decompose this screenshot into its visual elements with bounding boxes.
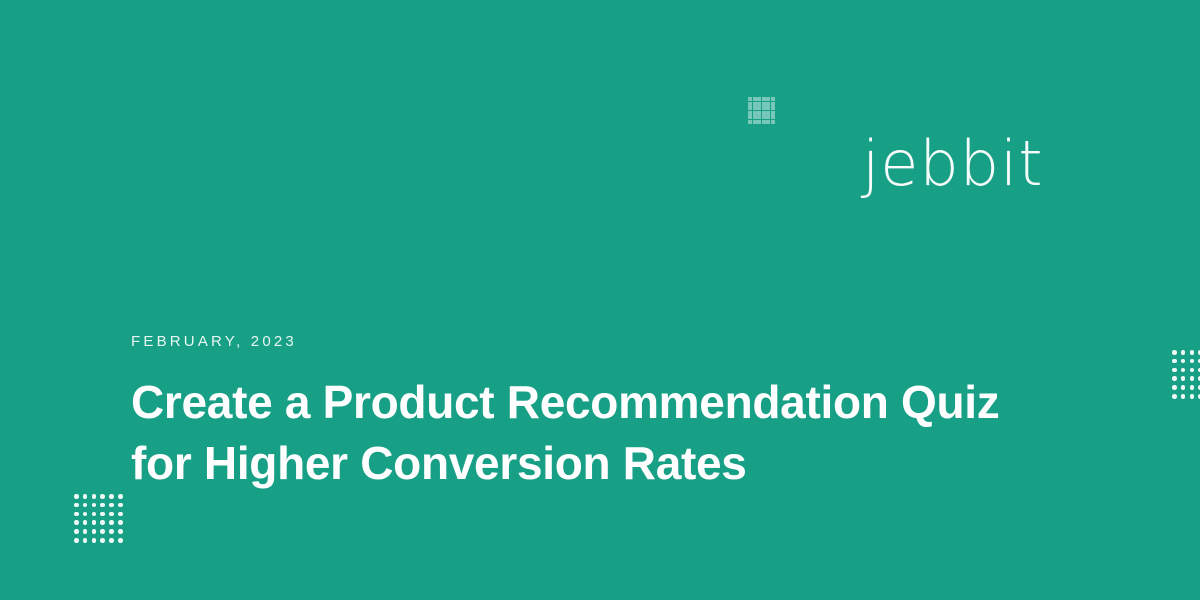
dot (118, 494, 123, 499)
dot (118, 520, 123, 525)
dot (771, 120, 775, 124)
dot (762, 120, 766, 124)
dot (83, 503, 88, 508)
dot (74, 529, 79, 534)
dot (762, 115, 766, 119)
dot (1190, 385, 1195, 390)
page-title: Create a Product Recommendation Quiz for… (131, 372, 1011, 493)
dot (762, 102, 766, 106)
dot (118, 512, 123, 517)
dot (757, 111, 761, 115)
dot (757, 102, 761, 106)
dot (766, 106, 770, 110)
dot (83, 538, 88, 543)
dot (92, 494, 97, 499)
dot (1190, 394, 1195, 399)
dot (74, 503, 79, 508)
dot (74, 494, 79, 499)
dot (1172, 359, 1177, 364)
page-title-line-2: for Higher Conversion Rates (131, 433, 1011, 494)
dot (753, 97, 757, 101)
dot (757, 97, 761, 101)
dot (1190, 350, 1195, 355)
dot (92, 512, 97, 517)
dot (753, 106, 757, 110)
publish-date: FEBRUARY, 2023 (131, 333, 1011, 351)
page-title-line-1: Create a Product Recommendation Quiz (131, 372, 1011, 433)
dot (766, 115, 770, 119)
dot (762, 97, 766, 101)
dot (1181, 350, 1186, 355)
dot (762, 106, 766, 110)
dot-grid-right-icon (1172, 350, 1200, 399)
dot (74, 512, 79, 517)
dot (1172, 394, 1177, 399)
dot (1172, 376, 1177, 381)
dot (757, 106, 761, 110)
dot (118, 503, 123, 508)
dot (109, 503, 114, 508)
dot (753, 111, 757, 115)
dot (748, 102, 752, 106)
dot (74, 520, 79, 525)
dot (753, 102, 757, 106)
dot (92, 529, 97, 534)
dot (109, 512, 114, 517)
dot (1172, 350, 1177, 355)
dot (92, 503, 97, 508)
dot (92, 520, 97, 525)
dot (118, 538, 123, 543)
dot (762, 111, 766, 115)
dot (1181, 385, 1186, 390)
dot (109, 529, 114, 534)
dot (757, 120, 761, 124)
dot (1181, 368, 1186, 373)
dot (748, 106, 752, 110)
dot (771, 106, 775, 110)
dot (753, 115, 757, 119)
dot (100, 520, 105, 525)
dot (100, 494, 105, 499)
dot (109, 494, 114, 499)
dot-grid-top-icon (748, 97, 775, 124)
dot (753, 120, 757, 124)
dot (100, 538, 105, 543)
dot (771, 115, 775, 119)
dot (100, 512, 105, 517)
dot (1172, 385, 1177, 390)
dot (748, 111, 752, 115)
dot (1190, 359, 1195, 364)
dot (766, 97, 770, 101)
dot-grid-bottom-left-icon (74, 494, 123, 543)
dot (766, 120, 770, 124)
dot (1190, 376, 1195, 381)
dot (83, 529, 88, 534)
dot (748, 97, 752, 101)
dot (1181, 394, 1186, 399)
dot (748, 120, 752, 124)
dot (83, 520, 88, 525)
dot (748, 115, 752, 119)
dot (771, 111, 775, 115)
dot (1181, 359, 1186, 364)
dot (1181, 376, 1186, 381)
dot (109, 520, 114, 525)
dot (100, 503, 105, 508)
brand-logo: jebbit (862, 133, 1044, 195)
dot (1190, 368, 1195, 373)
blog-header-banner: jebbit FEBRUARY, 2023 Create a Product R… (0, 0, 1200, 600)
dot (92, 538, 97, 543)
dot (766, 102, 770, 106)
dot (118, 529, 123, 534)
dot (757, 115, 761, 119)
dot (1172, 368, 1177, 373)
dot (100, 529, 105, 534)
dot (74, 538, 79, 543)
dot (771, 97, 775, 101)
banner-text-block: FEBRUARY, 2023 Create a Product Recommen… (131, 333, 1011, 493)
dot (109, 538, 114, 543)
dot (83, 494, 88, 499)
dot (83, 512, 88, 517)
dot (766, 111, 770, 115)
dot (771, 102, 775, 106)
